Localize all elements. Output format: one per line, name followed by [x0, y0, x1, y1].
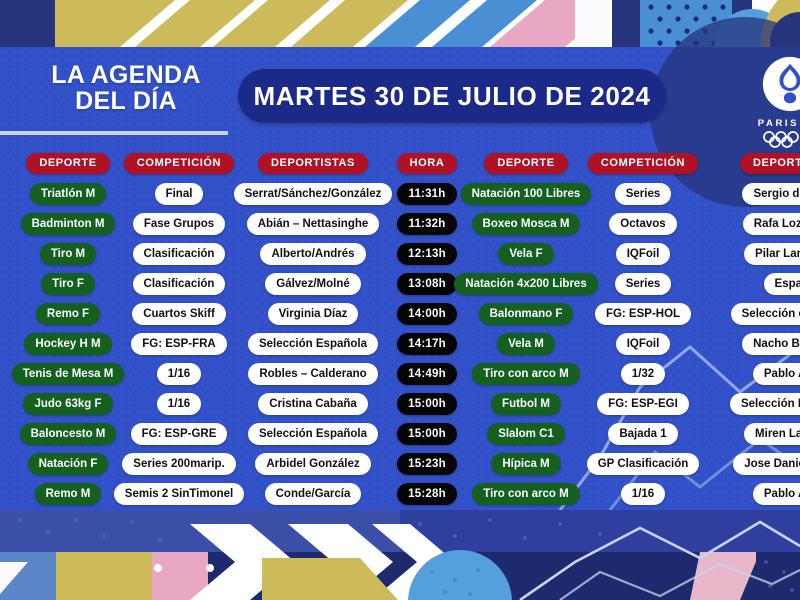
- table-row: Pablo Acha: [753, 483, 800, 505]
- table-row: 1/16: [157, 363, 201, 385]
- paris2024-flame-icon: [762, 56, 800, 112]
- table-row: GP Clasificación: [587, 453, 700, 475]
- table-row: Series: [615, 273, 672, 295]
- table-row: FG: ESP-HOL: [595, 303, 691, 325]
- table-row: Rafa Lozano Jr: [743, 213, 800, 235]
- table-row: Tiro con arco M: [472, 363, 579, 385]
- table-row: Tiro F: [41, 273, 95, 295]
- table-row: Series: [615, 183, 672, 205]
- table-row: Vela M: [497, 333, 555, 355]
- logo-wordmark: PARIS 2O: [742, 118, 800, 129]
- table-row: 14:49h: [397, 363, 457, 385]
- table-row: Bajada 1: [608, 423, 677, 445]
- table-row: Fase Grupos: [133, 213, 225, 235]
- table-row: Serrat/Sánchez/González: [234, 183, 393, 205]
- table-row: IQFoil: [616, 333, 671, 355]
- column-header-time: HORA: [397, 153, 458, 174]
- agenda-title-line2: DEL DÍA: [26, 89, 226, 115]
- table-row: Robles – Calderano: [248, 363, 377, 385]
- table-row: 12:13h: [397, 243, 457, 265]
- table-row: Baloncesto M: [20, 423, 117, 445]
- column-athletes-right: DEPORTISTAS Sergio de Celis Rafa Lozano …: [700, 153, 800, 513]
- table-row: Selección Española: [730, 393, 800, 415]
- bottom-band-pattern-icon: [0, 510, 800, 600]
- table-row: Badminton M: [21, 213, 116, 235]
- table-row: Natación 100 Libres: [461, 183, 592, 205]
- column-competition-right: COMPETICIÓN Series Octavos IQFoil Series…: [590, 153, 696, 513]
- table-row: Gálvez/Molné: [265, 273, 361, 295]
- table-row: Natación 4x200 Libres: [454, 273, 597, 295]
- table-row: Jose Daniel Martín: [733, 453, 800, 475]
- table-row: Selección Española: [248, 423, 378, 445]
- column-header-sport-left: DEPORTE: [26, 153, 109, 174]
- table-row: FG: ESP-FRA: [131, 333, 226, 355]
- table-row: Pablo Acha: [753, 363, 800, 385]
- table-row: 11:32h: [397, 213, 456, 235]
- page-title: LA AGENDA DEL DÍA: [26, 63, 226, 114]
- agenda-title-line1: LA AGENDA: [26, 63, 226, 89]
- table-row: 1/16: [157, 393, 201, 415]
- table-row: 14:17h: [397, 333, 457, 355]
- table-row: 1/16: [621, 483, 665, 505]
- table-row: Natación F: [28, 453, 109, 475]
- date-banner: MARTES 30 DE JULIO DE 2024: [238, 69, 666, 123]
- table-row: Vela F: [498, 243, 553, 265]
- table-row: Octavos: [609, 213, 676, 235]
- table-row: 14:00h: [397, 303, 457, 325]
- table-row: FG: ESP-EGI: [597, 393, 689, 415]
- table-row: Triatlón M: [30, 183, 106, 205]
- table-row: Sergio de Celis: [742, 183, 800, 205]
- table-row: Clasificación: [133, 273, 226, 295]
- olympic-schedule-poster: LA AGENDA DEL DÍA MARTES 30 DE JULIO DE …: [0, 0, 800, 600]
- table-row: Alberto/Andrés: [260, 243, 365, 265]
- top-band-pattern-icon: [0, 0, 800, 47]
- table-row: 15:23h: [397, 453, 457, 475]
- table-row: Remo F: [36, 303, 100, 325]
- table-row: Slalom C1: [487, 423, 565, 445]
- column-header-competition-left: COMPETICIÓN: [124, 153, 234, 174]
- table-row: Pilar Lamadrid: [744, 243, 800, 265]
- table-row: Arbidel González: [255, 453, 370, 475]
- table-row: 15:00h: [397, 423, 457, 445]
- table-row: Tiro con arco M: [472, 483, 579, 505]
- table-row: Virginia Díaz: [268, 303, 359, 325]
- column-header-athletes-left: DEPORTISTAS: [258, 153, 368, 174]
- column-time: HORA 11:31h 11:32h 12:13h 13:08h 14:00h …: [394, 153, 460, 513]
- table-row: 15:28h: [397, 483, 457, 505]
- column-sport-right: DEPORTE Natación 100 Libres Boxeo Mosca …: [464, 153, 588, 513]
- table-row: Selección Española: [248, 333, 378, 355]
- title-divider: [0, 131, 228, 135]
- table-row: Remo M: [35, 483, 102, 505]
- table-row: Futbol M: [491, 393, 561, 415]
- table-row: Final: [155, 183, 204, 205]
- table-row: FG: ESP-GRE: [131, 423, 228, 445]
- column-header-sport-right: DEPORTE: [484, 153, 567, 174]
- column-athletes-left: DEPORTISTAS Serrat/Sánchez/González Abiá…: [236, 153, 390, 513]
- table-row: Boxeo Mosca M: [472, 213, 581, 235]
- top-decorative-band: [0, 0, 800, 47]
- table-row: Conde/García: [265, 483, 362, 505]
- date-label: MARTES 30 DE JULIO DE 2024: [253, 81, 650, 112]
- table-row: Selección española: [731, 303, 800, 325]
- table-row: Balonmano F: [479, 303, 574, 325]
- table-row: 13:08h: [397, 273, 457, 295]
- table-row: Tenis de Mesa M: [12, 363, 125, 385]
- table-row: Judo 63kg F: [23, 393, 112, 415]
- table-row: Hípica M: [491, 453, 560, 475]
- table-row: Clasificación: [133, 243, 226, 265]
- table-row: España: [764, 273, 800, 295]
- table-row: Tiro M: [40, 243, 96, 265]
- paris2024-logo: PARIS 2O: [742, 56, 800, 140]
- table-row: Abián – Nettasinghe: [247, 213, 380, 235]
- column-header-athletes-right: DEPORTISTAS: [740, 153, 800, 174]
- table-row: Nacho Baltasar: [742, 333, 800, 355]
- table-row: Cristina Cabaña: [258, 393, 368, 415]
- table-row: 15:00h: [397, 393, 457, 415]
- table-row: IQFoil: [616, 243, 671, 265]
- column-sport-left: DEPORTE Triatlón M Badminton M Tiro M Ti…: [14, 153, 122, 513]
- column-header-competition-right: COMPETICIÓN: [588, 153, 698, 174]
- table-row: Semis 2 SinTimonel: [114, 483, 244, 505]
- table-row: Hockey H M: [24, 333, 111, 355]
- table-row: Cuartos Skiff: [132, 303, 226, 325]
- table-row: 11:31h: [397, 183, 456, 205]
- table-row: 1/32: [621, 363, 665, 385]
- column-competition-left: COMPETICIÓN Final Fase Grupos Clasificac…: [124, 153, 234, 513]
- olympic-rings-icon: [759, 131, 800, 148]
- table-row: Miren Lazkano: [744, 423, 800, 445]
- bottom-decorative-band: [0, 510, 800, 600]
- table-row: Series 200marip.: [122, 453, 235, 475]
